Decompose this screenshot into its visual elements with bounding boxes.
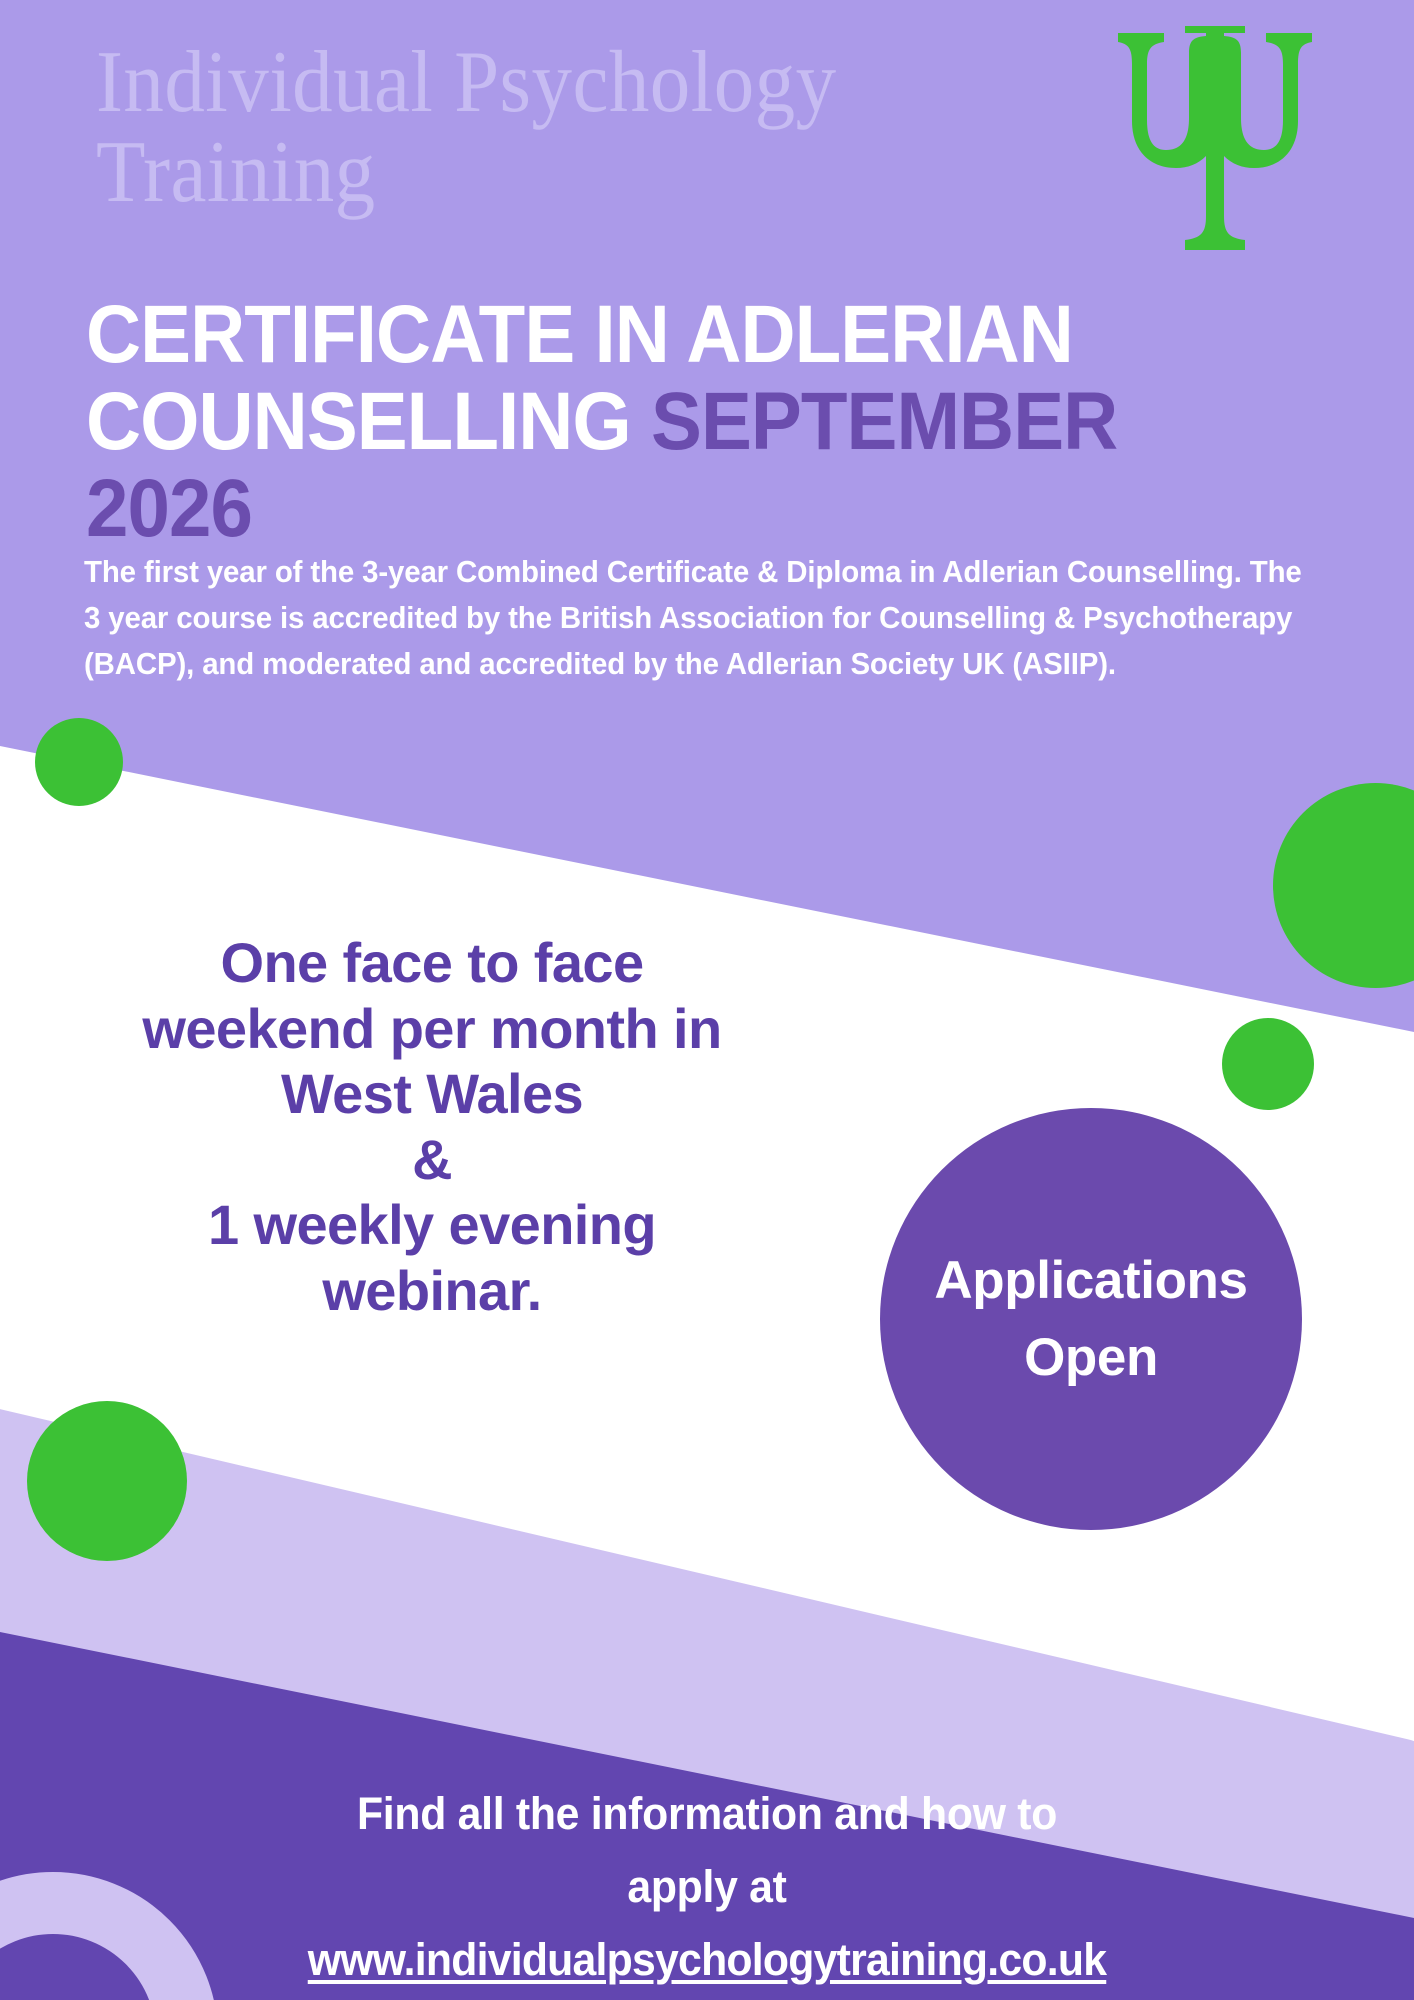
website-url-link[interactable]: www.individualpsychologytraining.co.uk [137,1924,1277,1997]
brand-line-2: Training [96,128,1016,218]
brand-line-1: Individual Psychology [96,38,1016,128]
format-line: One face to face [62,930,802,996]
course-format-text: One face to face weekend per month in We… [62,930,802,1323]
badge-line-2: Open [1024,1319,1158,1396]
format-line: West Wales [62,1061,802,1127]
page-title: CERTIFICATE IN ADLERIAN COUNSELLING SEPT… [86,292,1286,553]
green-circle-decoration [1222,1018,1314,1110]
footer-line-1: Find all the information and how to [357,1788,1057,1839]
format-line: & [62,1127,802,1193]
format-line: webinar. [62,1258,802,1324]
green-circle-decoration [1273,783,1414,988]
format-line: weekend per month in [62,996,802,1062]
footer-call-to-action: Find all the information and how to appl… [137,1778,1277,1997]
applications-open-badge[interactable]: Applications Open [880,1108,1302,1530]
footer-line-2: apply at [627,1861,786,1912]
badge-line-1: Applications [934,1242,1247,1319]
format-line: 1 weekly evening [62,1192,802,1258]
green-circle-decoration [35,718,123,806]
poster-canvas: Individual Psychology Training CERTIFICA… [0,0,1414,2000]
green-circle-decoration [27,1401,187,1561]
intro-paragraph: The first year of the 3-year Combined Ce… [84,549,1317,688]
brand-wordmark: Individual Psychology Training [96,38,1016,218]
psi-greek-letter-icon [1110,22,1320,257]
